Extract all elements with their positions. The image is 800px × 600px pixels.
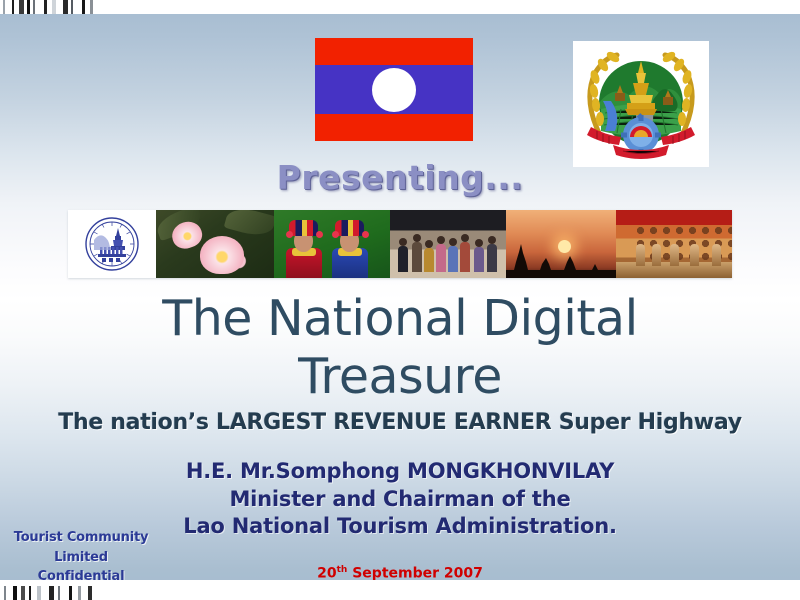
- barcode-strip-bottom: [0, 580, 800, 600]
- photo-frangipani-flowers: [156, 210, 274, 278]
- flag-red-band-bottom: [315, 114, 473, 141]
- photo-hmong-girls-costume: [274, 210, 390, 278]
- confidentiality-watermark: Tourist Community Limited Confidential: [6, 528, 156, 587]
- presentation-slide: Presenting...: [0, 0, 800, 600]
- photo-buddha-statue-hall: [616, 210, 732, 278]
- slide-tagline: The nation’s LARGEST REVENUE EARNER Supe…: [20, 410, 780, 435]
- barcode-bars: [0, 586, 800, 600]
- date-ordinal: th: [337, 565, 348, 575]
- watermark-line-1: Tourist Community Limited: [14, 530, 149, 565]
- photo-lao-tourism-seal: [68, 210, 156, 278]
- speaker-role-line-1: Minister and Chairman of the: [40, 486, 760, 514]
- speaker-name: H.E. Mr.Somphong MONGKHONVILAY: [40, 458, 760, 486]
- flag-white-disc: [372, 68, 416, 112]
- barcode-strip-top: [0, 0, 800, 14]
- photo-strip: [68, 210, 732, 278]
- barcode-bars: [0, 0, 800, 14]
- flag-red-band-top: [315, 38, 473, 65]
- lao-tourism-seal-icon: [84, 216, 140, 272]
- presenting-label: Presenting...: [0, 158, 800, 197]
- photo-festival-procession: [390, 210, 506, 278]
- lao-national-emblem: [573, 41, 709, 167]
- slide-title: The National Digital Treasure: [60, 290, 740, 406]
- photo-temple-sunset: [506, 210, 616, 278]
- lao-national-flag: [315, 38, 473, 141]
